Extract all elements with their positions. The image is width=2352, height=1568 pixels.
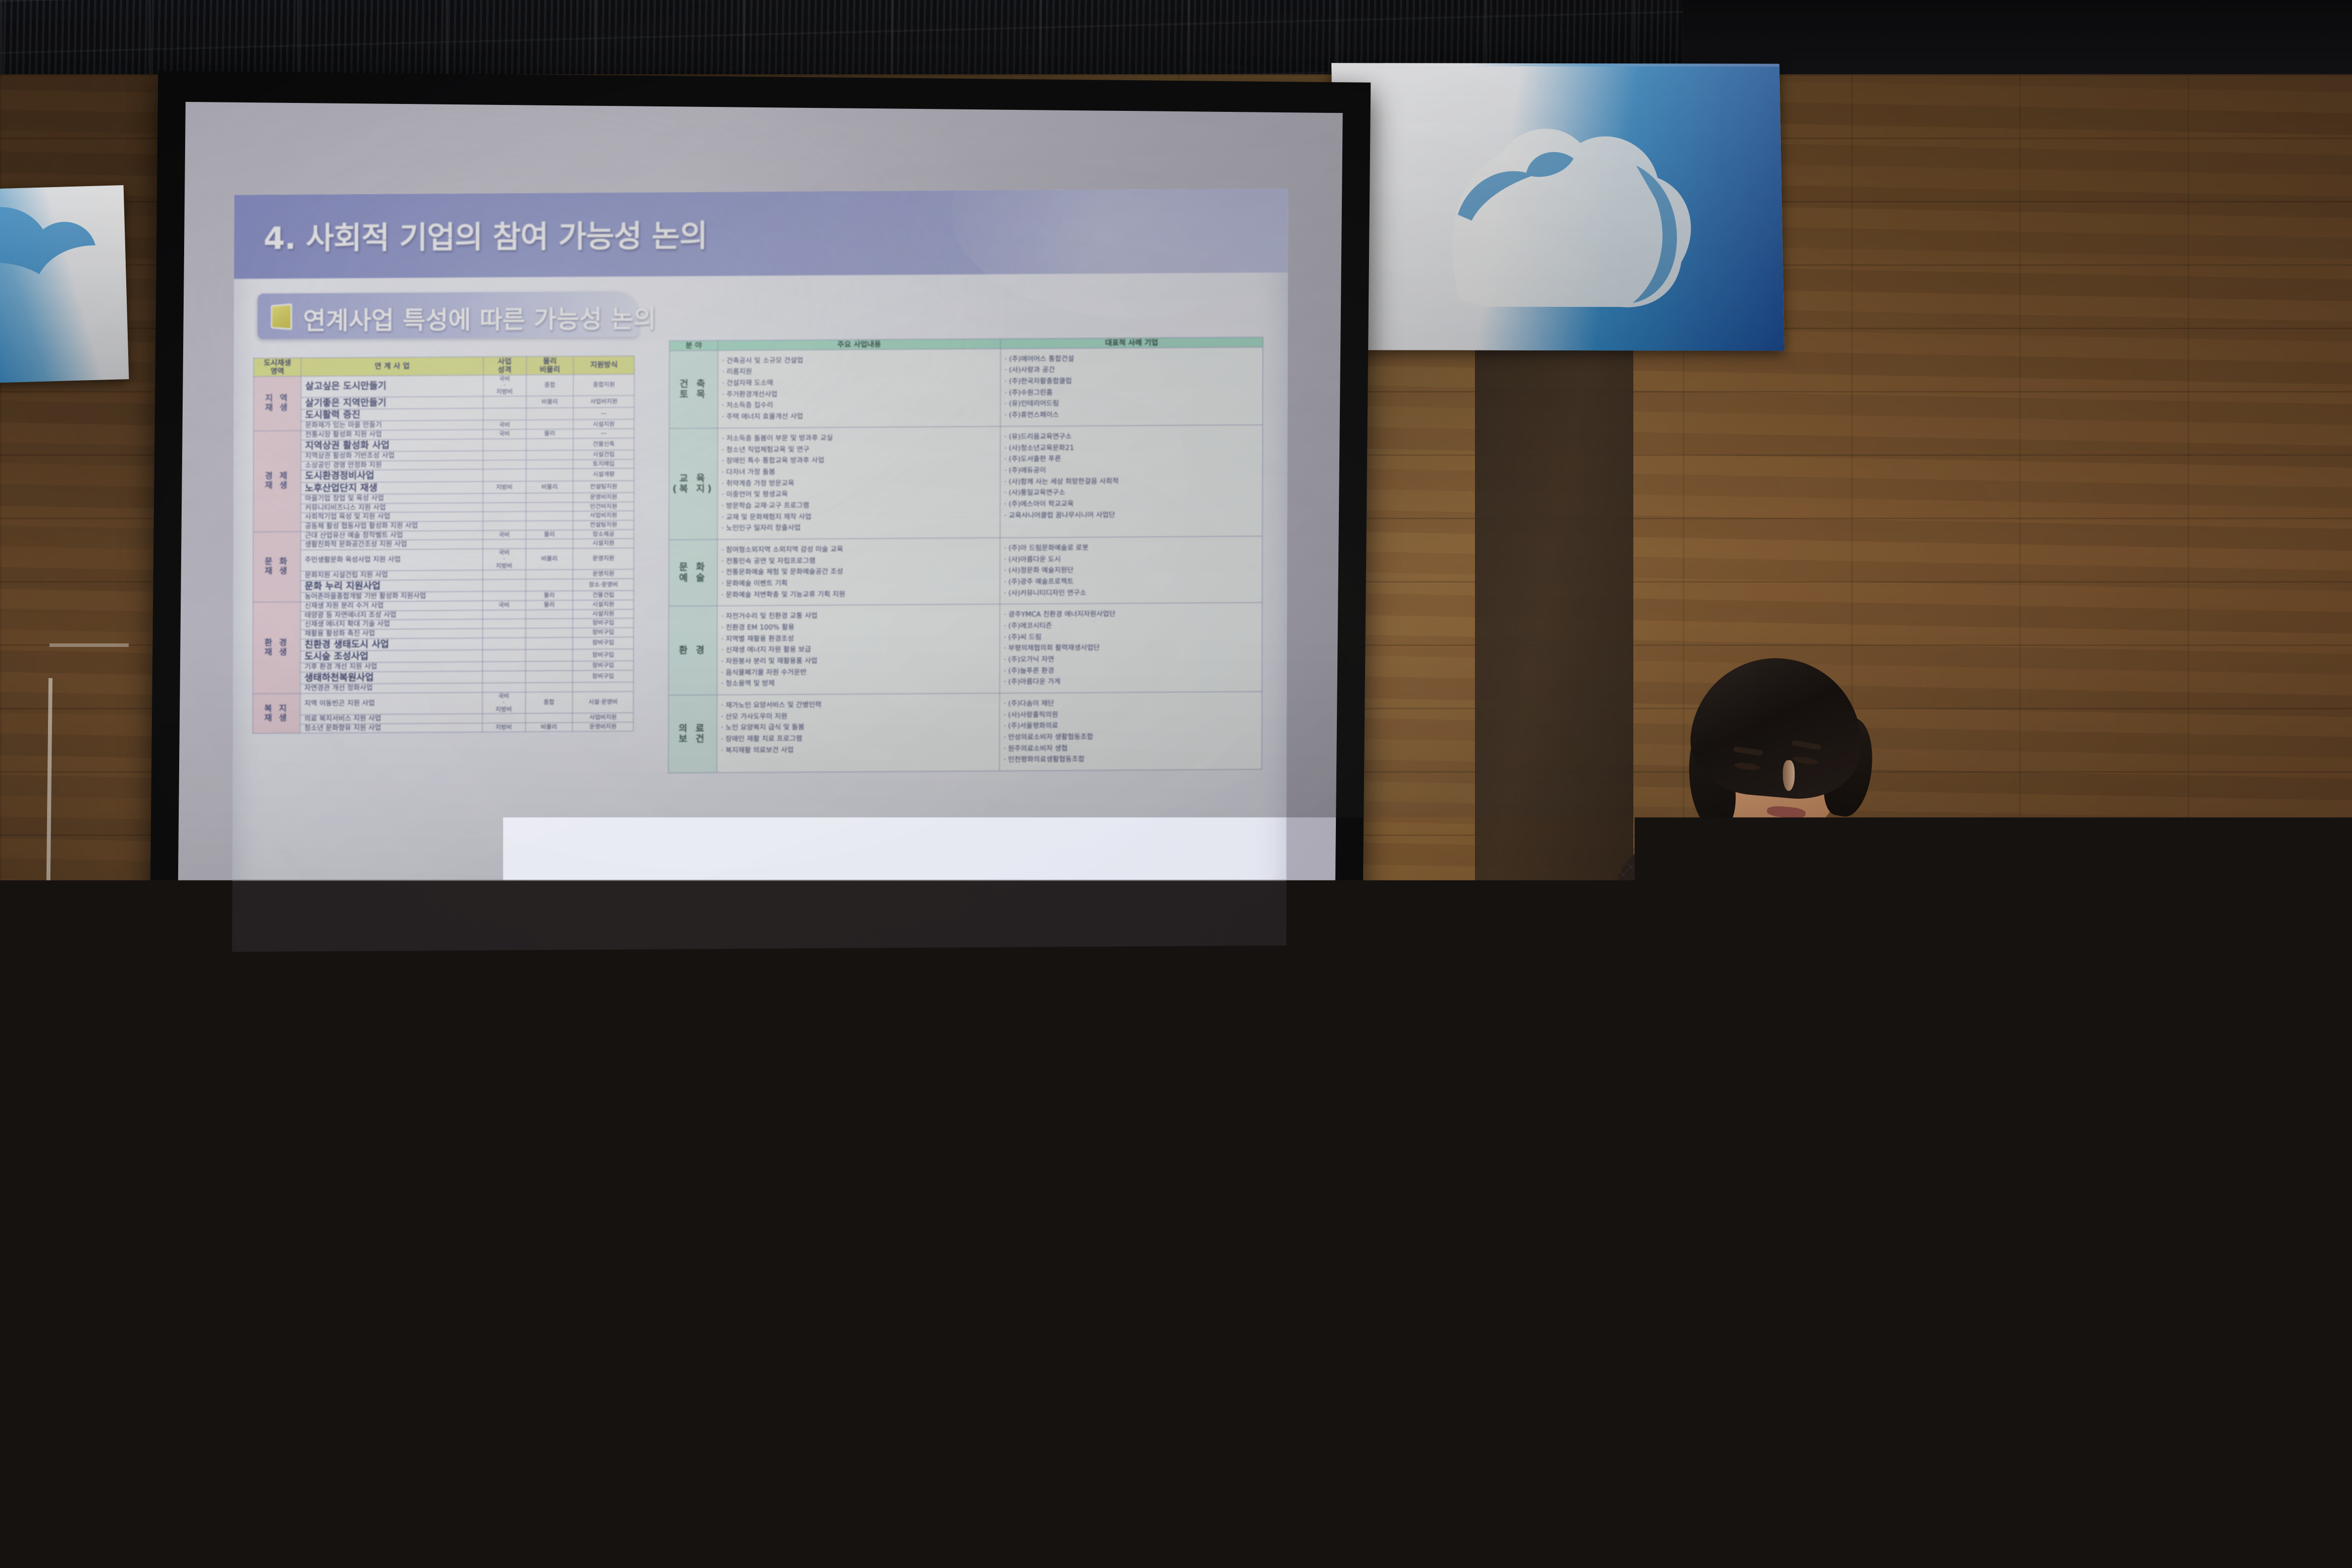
list-item: 부평의제협의회 활력재생사업단 [1004,641,1258,654]
wall-banner-left [0,185,129,383]
list-item: 참여형소외지역 소외지역 감성 미술 교육 [722,543,996,556]
list-item: (사)함께 사는 세상 희망한걸음 사회적 [1004,475,1258,488]
list-item: (사)통일교육연구소 [1004,486,1258,499]
support-method-cell: 장소·운영비 [573,579,634,591]
list-item: 인천평화의료생활협동조합 [1004,753,1258,766]
banner-sheen [1331,66,1784,350]
physical-type-cell [526,420,574,429]
door-seam-horizontal [49,643,129,647]
physical-type-cell: 종합 [526,374,574,396]
presentation-slide: 4. 사회적 기업의 참여 가능성 논의 연계사업 특성에 따른 가능성 논의 … [232,188,1288,952]
ac-mode-led [2317,1367,2326,1375]
list-item: 교육사니어클럽 꿈나무시니어 사업단 [1004,508,1258,521]
project-type-cell [483,439,526,451]
list-item: 전통민속 공연 및 자립프로그램 [722,554,996,567]
project-type-cell [483,649,526,662]
support-method-cell: — [574,407,635,420]
list-item: 청소용역 및 방제 [721,677,995,689]
project-name-cell: 문화 누리 지원사업 [300,580,483,593]
book-icon [271,303,292,330]
field-category-cell: 건 축토 목 [669,350,718,429]
support-method-cell: 시설·운영비 [573,691,634,713]
list-item: (유)드리움교육연구소 [1004,430,1258,443]
subheading-text: 연계사업 특성에 따른 가능성 논의 [303,299,656,337]
support-method-cell: 컨설팅지원 [573,481,634,493]
project-name-cell: 청소년 문화향유 지원 사업 [300,723,482,734]
physical-type-cell [526,619,573,628]
project-type-cell [483,450,526,460]
project-name-cell: 지역상권 활성화 기반조성 사업 [301,451,483,461]
support-method-cell: 토지매입 [573,459,634,469]
project-type-cell [483,637,526,650]
project-type-cell [483,512,526,521]
support-method-cell: 장소제공 [573,530,634,539]
list-item: 장애인 특수 통합교육 방과후 사업 [722,454,996,467]
physical-type-cell [526,502,573,511]
project-type-cell [482,671,525,683]
ac-power-led [2317,1357,2326,1366]
podium-edge-left [1633,1178,1635,1564]
left-table-header-row: 도시재생 영역 연 계 사 업 사업 성격 물리 비물리 [253,356,634,376]
physical-type-cell [526,579,573,591]
podium-top-surface [1515,1084,2128,1158]
support-method-cell: 장비구입 [573,637,634,649]
regeneration-category-cell: 문 화재 생 [253,532,300,602]
physical-type-cell [526,628,573,637]
list-item: (사)청소년교육문화21 [1004,441,1258,454]
project-name-cell: 의료 복지서비스 지원 사업 [300,714,482,724]
project-type-cell [483,469,526,482]
physical-type-cell [525,671,573,683]
list-item: 자원봉사 분리 및 재활용품 사업 [721,654,995,667]
linkage-projects-table: 도시재생 영역 연 계 사 업 사업 성격 물리 비물리 [252,356,635,734]
physical-type-cell [526,408,574,420]
support-method-cell: 장비구입 [573,670,634,683]
project-name-cell: 살고싶은 도시만들기 [301,375,483,398]
projection-screen-frame: 4. 사회적 기업의 참여 가능성 논의 연계사업 특성에 따른 가능성 논의 … [149,71,1371,1057]
list-item: (주)에코시티즌 [1004,619,1258,632]
main-business-cell: 건축공사 및 소규모 건설업리폼지원건설자재 도소매주거환경개선사업저소득층 집… [718,348,1000,428]
physical-type-cell [525,713,573,723]
project-name-cell: 문화지원 시설건립 지원 사업 [300,570,483,581]
physical-type-cell [526,469,573,481]
physical-type-cell: 비물리 [525,723,573,732]
list-item: 건축공사 및 소규모 건설업 [722,354,996,367]
list-item: (사)정문화 예술지원단 [1004,564,1258,577]
example-company-cell: (주)에어어스 통합건설(사)사랑과 공간(주)한국자활종합클럽(주)수원그린홈… [1000,347,1263,426]
physical-type-cell [525,661,573,671]
support-method-cell: 사업비지원 [574,395,635,408]
list-item: 전통문화예술 체험 및 문화예술공간 조성 [722,565,996,578]
physical-type-cell [526,539,573,548]
support-method-cell: 건물신축 [573,438,634,450]
physical-type-cell: 비물리 [526,548,573,570]
th-field: 분 야 [670,341,718,350]
banner-sheen-left [0,185,129,383]
support-method-cell: 장비구입 [573,661,634,670]
project-type-cell [483,591,526,601]
social-enterprise-table: 분 야 주요 사업내용 대표적 사례 기업 건 축토 목건축공사 및 소규모 건… [668,337,1263,773]
table-row: 건 축토 목건축공사 및 소규모 건설업리폼지원건설자재 도소매주거환경개선사업… [669,347,1263,428]
project-name-cell: 마을기업 창업 및 육성 사업 [301,493,483,504]
list-item: 리폼지원 [722,365,996,378]
project-name-cell: 공동체 활성 협동사업 활성화 지원 사업 [300,521,483,532]
project-type-cell: 국비 [483,430,526,439]
podium-body [1529,1176,2094,1568]
project-type-cell: 지방비 [483,481,526,493]
list-item: 친환경 EM 100% 활용 [721,621,995,634]
physical-type-cell [526,439,574,451]
support-method-cell: — [573,429,634,438]
physical-type-cell: 물리 [526,600,573,610]
support-method-cell: 시설지원 [573,609,634,619]
project-type-cell [483,610,526,619]
speaker-nose [1783,760,1795,791]
field-category-cell: 환 경 [669,606,717,695]
project-name-cell: 노후산업단지 재생 [301,482,483,495]
main-business-cell: 저소득층 돌봄이 부문 및 방과후 교실청소년 직업체험교육 및 연구장애인 특… [717,426,1000,539]
speaker-name-badge: 한국지역개발학회 장 우 진 중부대학교 [1848,971,1929,1033]
speaker-person: 한국지역개발학회 장 우 진 중부대학교 [1559,658,2005,1158]
list-item: (주)에어어스 통합건설 [1005,352,1259,365]
project-name-cell: 신재생 에너지 확대 기술 사업 [300,619,483,630]
conference-room-photo: 4. 사회적 기업의 참여 가능성 논의 연계사업 특성에 따른 가능성 논의 … [0,0,2352,1568]
project-type-cell [483,579,526,591]
list-item: 복지재활 의료보건 사업 [721,743,995,756]
list-item: 노인 요양복지 급식 및 돌봄 [721,721,995,734]
list-item: 문화예술 저변확충 및 기능교류 기획 지원 [722,588,996,601]
list-item: 건설자재 도소매 [722,376,996,389]
example-company-cell: (유)드리움교육연구소(사)청소년교육문화21(주)도서출판 푸른(주)에듀공이… [1000,425,1263,538]
th-physical-nonphysical: 물리 비물리 [526,356,574,375]
th-support-method: 지원방식 [574,356,635,374]
support-method-cell: 시설건립 [573,450,634,459]
lectern-podium [1470,1084,2173,1568]
project-name-cell: 주민생활문화 육성사업 지원 사업 [300,549,483,572]
project-name-cell: 근대 산업유산 예술 창작벨트 사업 [300,531,483,541]
av-equipment-rack [2115,1110,2352,1281]
project-type-cell [482,713,525,723]
list-item: 청소년 직업체험교육 및 연구 [722,443,996,456]
list-item: 다자녀 가정 돌봄 [722,465,996,478]
table-row: 의 료보 건재가노인 요양서비스 및 간병인력산모 가사도우미 지원노인 요양복… [668,691,1262,773]
left-table-head: 도시재생 영역 연 계 사 업 사업 성격 물리 비물리 [253,356,634,376]
support-method-cell: 종합지원 [574,374,635,396]
physical-type-cell [526,450,574,460]
support-method-cell: 장비구입 [573,649,634,661]
project-type-cell: 국비·지방비 [483,375,526,396]
list-item: 노인인구 일자리 창출사업 [722,521,996,534]
table-row: 주민생활문화 육성사업 지원 사업국비·지방비비물리운영지원 [253,548,634,572]
support-method-cell: 시설지원 [574,419,635,429]
project-name-cell: 신재생 자원 분리 수거 사업 [300,601,483,611]
support-method-cell: 사업비지원 [573,713,634,722]
physical-type-cell [526,460,573,469]
list-item: (주)휴먼스페이스 [1004,408,1258,421]
list-item: 교재 및 문화체험지 제작 사업 [722,510,996,523]
list-item: 안성의료소비자 생활협동조합 [1004,731,1258,743]
physical-type-cell: 비물리 [526,481,573,493]
air-conditioner-unit [2143,1326,2352,1568]
list-item: (주)수원그린홈 [1005,386,1259,399]
list-item: 취약계층 가정 방문교육 [722,477,996,490]
list-item: (주)다솜이 재단 [1004,697,1258,710]
list-item: (주)에스아이 학교교육 [1004,497,1258,510]
physical-type-cell: 비물리 [526,396,574,408]
project-type-cell [482,683,525,692]
podium-left-side [1488,1178,1533,1524]
support-method-cell: 운영비지원 [573,722,634,732]
list-item: (주)아 드림문화예술로 로봇 [1004,541,1258,554]
list-item: (사)커뮤니티디자인 연구소 [1004,586,1258,599]
podium-edge-right [2053,1178,2055,1563]
project-type-cell [483,539,526,549]
regeneration-category-cell: 복 지재 생 [253,693,300,734]
project-type-cell: 지방비 [482,723,525,732]
project-name-cell: 자연경관 개선 정화사업 [300,683,483,693]
list-item: (주)아름다운 가게 [1004,675,1258,688]
field-category-cell: 교 육(복 지) [669,428,718,540]
project-name-cell: 태양광 등 자연에너지 조성 사업 [300,610,483,620]
support-method-cell: 인건비지원 [573,502,634,511]
head-table-name-card: 한국지역개발학회 최 승 영 대학교 [0,1305,101,1384]
regeneration-category-cell: 지 역재 생 [253,376,301,431]
list-item: (주)광주 예술프로젝트 [1004,575,1258,588]
list-item: (사)사랑과 공간 [1005,363,1259,376]
project-name-cell: 소상공인 경영 안정화 지원 [301,460,483,471]
list-item: (사)사랑홀릭의원 [1004,708,1258,721]
list-item: 방문학습 교재·교구 프로그램 [722,499,996,512]
physical-type-cell [526,493,573,502]
list-item: 저소득층 돌봄이 부문 및 방과후 교실 [722,432,996,444]
support-method-cell: 시설개량 [573,468,634,481]
support-method-cell: 건물건립 [573,590,634,600]
regeneration-category-cell: 경 제재 생 [253,431,301,532]
table-row: 문 화예 술참여형소외지역 소외지역 감성 미술 교육전통민속 공연 및 자립프… [669,536,1262,606]
podium-status-led [1509,1247,1517,1256]
project-type-cell [483,628,526,637]
support-method-cell: 운영지원 [573,548,634,570]
project-name-cell: 생활친화적 문화공간조성 지원 사업 [300,539,483,550]
list-item: 주거환경개선사업 [722,388,996,400]
project-type-cell [483,396,526,408]
ac-lower-grille [2206,1519,2352,1568]
slide-title: 4. 사회적 기업의 참여 가능성 논의 [264,211,707,258]
list-item: 지역별 재활용 환경조성 [721,632,995,645]
th-project-type: 사업 성격 [483,356,526,375]
example-company-cell: 광주YMCA 친환경 에너지자원사업단(주)에코시티즌(주)씨 드림부평의제협의… [1000,603,1263,693]
ac-air-grille [2206,1387,2352,1491]
field-category-cell: 문 화예 술 [669,539,717,606]
project-type-cell: 국비 [483,530,526,539]
projection-screen-surface: 4. 사회적 기업의 참여 가능성 논의 연계사업 특성에 따른 가능성 논의 … [177,102,1343,1024]
physical-type-cell: 종합 [525,692,573,714]
project-type-cell: 국비·지방비 [483,548,526,570]
left-table-body: 지 역재 생살고싶은 도시만들기국비·지방비종합종합지원살기좋은 지역만들기비물… [253,374,635,734]
project-type-cell [483,502,526,512]
main-business-cell: 참여형소외지역 소외지역 감성 미술 교육전통민속 공연 및 자립프로그램전통문… [717,538,1000,606]
ac-control-panel[interactable] [2202,1352,2350,1374]
project-name-cell: 기후 환경 개선 지원 사업 [300,662,483,672]
project-type-cell: 국비 [483,420,526,430]
physical-type-cell [526,521,573,530]
list-item: 광주YMCA 친환경 에너지자원사업단 [1004,608,1258,621]
physical-type-cell [525,683,573,692]
list-item: (주)서울평화의료 [1004,719,1258,732]
project-name-cell: 도시환경정비사업 [301,469,483,483]
project-type-cell [483,570,526,580]
speaker-hair [1686,651,1868,804]
table-row: 환 경자전거수리 및 친환경 교통 사업친환경 EM 100% 활용지역별 재활… [669,603,1262,695]
project-name-cell: 도시숲 조성사업 [300,650,483,663]
list-item: (사)아름다운 도시 [1004,552,1258,565]
project-type-cell [483,619,526,629]
list-item: 주택 에너지 효율개선 사업 [722,410,996,423]
project-name-cell: 커뮤니티비즈니스 지원 사업 [301,503,483,513]
project-name-cell: 재활용 활성화 촉진 사업 [300,629,483,639]
regeneration-category-cell: 환 경재 생 [253,602,300,693]
support-method-cell: 장비구입 [573,628,634,637]
physical-type-cell: 물리 [526,429,574,439]
list-item: 이중언어 및 평생교육 [722,488,996,500]
th-linkage-project: 연 계 사 업 [301,357,483,376]
slide-subheading: 연계사업 특성에 따른 가능성 논의 [257,291,638,339]
project-name-cell: 농어촌마을종합개발 기반 활성화 지원사업 [300,591,483,602]
main-business-cell: 재가노인 요양서비스 및 간병인력산모 가사도우미 지원노인 요양복지 급식 및… [717,693,999,773]
physical-type-cell [526,511,573,521]
support-method-cell [573,682,634,691]
example-company-cell: (주)아 드림문화예술로 로봇(사)아름다운 도시(사)정문화 예술지원단(주)… [1000,536,1263,604]
project-name-cell: 살기좋은 지역만들기 [301,396,483,410]
list-item: (주)한국자활종합클럽 [1005,375,1259,388]
physical-type-cell: 물리 [526,530,573,539]
support-method-cell: 장비구입 [573,618,634,628]
example-company-cell: (주)다솜이 재단(사)사랑홀릭의원(주)서울평화의료안성의료소비자 생활협동조… [999,691,1262,771]
list-item: 산모 가사도우미 지원 [721,710,995,723]
ac-side-handle [2161,1475,2190,1522]
physical-type-cell [526,637,573,649]
physical-type-cell [525,649,573,662]
support-method-cell: 시설지원 [573,600,634,609]
project-type-cell [483,460,526,469]
podium-handle[interactable] [1492,1440,1556,1461]
support-method-cell: 컨설팅지원 [573,520,634,530]
project-name-cell: 전통시장 활성화 지원 사업 [301,430,483,440]
list-item: (주)늘푸른 환경 [1004,664,1258,677]
list-item: (주)오가닉 자연 [1004,653,1258,666]
list-item: 신재생 에너지 자원 활용 보급 [721,643,995,656]
project-name-cell: 생태하천복원사업 [300,671,483,685]
screen-pull-knob[interactable] [643,1045,670,1063]
right-table-body: 건 축토 목건축공사 및 소규모 건설업리폼지원건설자재 도소매주거환경개선사업… [668,347,1263,773]
table-row: 청소년 문화향유 지원 사업지방비비물리운영비지원 [253,722,634,734]
field-category-cell: 의 료보 건 [668,695,717,773]
support-method-cell: 사업비지원 [573,511,634,520]
list-item: (주)에듀공이 [1004,464,1258,477]
podium-power-led [1509,1217,1517,1225]
support-method-cell: 시설지원 [573,539,634,548]
list-item: 재가노인 요양서비스 및 간병인력 [721,698,995,711]
project-name-cell: 지역상권 활성화 사업 [301,439,483,452]
project-name-cell: 사회적기업 육성 및 지원 사업 [301,512,483,522]
physical-type-cell [526,609,573,619]
project-name-cell: 도시활력 증진 [301,408,483,422]
list-item: 원주의료소비자 생협 [1004,742,1258,755]
list-item: (주)씨 드림 [1004,630,1258,643]
list-item: 문화예술 이벤트 기획 [722,577,996,589]
physical-type-cell: 물리 [526,591,573,600]
list-item: 음식물폐기물 자원 수거운반 [721,666,995,679]
table-row: 복 지재 생지역 이동빈곤 지원 사업국비·지방비종합시설·운영비 [253,691,634,715]
list-item: 장애인 재활 치료 프로그램 [721,732,995,745]
table-row: 교 육(복 지)저소득층 돌봄이 부문 및 방과후 교실청소년 직업체험교육 및… [669,425,1263,539]
project-type-cell [482,662,525,671]
table-row: 지 역재 생살고싶은 도시만들기국비·지방비종합종합지원 [253,374,634,398]
main-business-cell: 자전거수리 및 친환경 교통 사업친환경 EM 100% 활용지역별 재활용 환… [717,604,1000,695]
project-type-cell [483,521,526,530]
support-method-cell: 운영비지원 [573,492,634,502]
project-type-cell [483,493,526,502]
project-type-cell: 국비 [483,600,526,610]
project-type-cell [483,408,526,421]
list-item: 저소득층 집수리 [722,399,996,412]
project-name-cell: 친환경 생태도시 사업 [300,638,483,651]
physical-type-cell [526,570,573,579]
th-urban-regen-area: 도시재생 영역 [253,358,301,376]
project-name-cell: 문화재가 있는 마을 만들기 [301,420,483,431]
list-item: (주)도서출판 푸른 [1004,452,1258,465]
list-item: 자전거수리 및 친환경 교통 사업 [721,609,995,622]
support-method-cell: 운영지원 [573,569,634,579]
project-name-cell: 지역 이동빈곤 지원 사업 [300,692,482,715]
podium-keyhole-plate [1506,1361,1528,1384]
project-type-cell: 국비·지방비 [482,692,525,714]
wall-banner-right [1331,63,1784,350]
list-item: (유)인테리어드림 [1005,397,1259,410]
